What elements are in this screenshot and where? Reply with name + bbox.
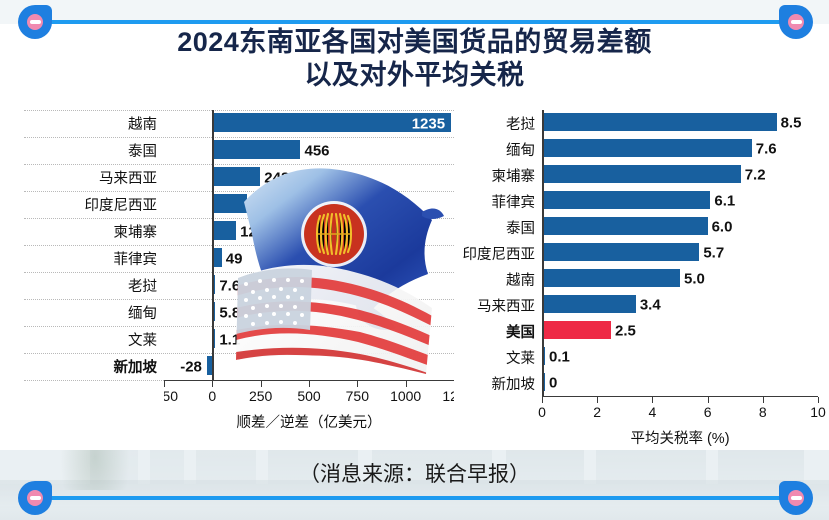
value-label: -28: [180, 358, 202, 375]
bar-track: 7.6: [542, 136, 818, 162]
title-line-1: 2024东南亚各国对美国货品的贸易差额: [177, 27, 652, 57]
category-label: 泰国: [462, 217, 542, 238]
bar: [542, 165, 741, 183]
bar-track: 2.5: [542, 318, 818, 344]
value-label: 1.1: [219, 331, 240, 348]
value-label: 6.0: [712, 219, 733, 236]
bar-track: 6.0: [542, 214, 818, 240]
value-label: 1235: [412, 115, 445, 132]
chart-row: 泰国456: [24, 137, 454, 164]
x-axis-area: -25002505007501000125 顺差／逆差（亿美元）: [164, 380, 454, 432]
value-label: 6.1: [714, 193, 735, 210]
category-label: 文莱: [24, 329, 164, 350]
category-label: 越南: [24, 113, 164, 134]
chart-row: 马来西亚3.4: [462, 292, 818, 318]
x-tick-label: 10: [810, 404, 826, 420]
value-label: 0.1: [549, 349, 570, 366]
bar: [212, 167, 260, 186]
value-label: 248: [264, 169, 289, 186]
chart-row: 老挝7.6: [24, 272, 454, 299]
chart-row: 新加坡-28: [24, 353, 454, 380]
value-label: 5.7: [703, 245, 724, 262]
chart-row: 柬埔寨7.2: [462, 162, 818, 188]
x-axis-tick-labels: -25002505007501000125: [164, 387, 454, 407]
x-tick-label: 6: [704, 404, 712, 420]
category-label: 泰国: [24, 140, 164, 161]
category-label: 新加坡: [24, 356, 164, 377]
category-label: 菲律宾: [24, 248, 164, 269]
chart-average-tariff: 老挝8.5缅甸7.6柬埔寨7.2菲律宾6.1泰国6.0印度尼西亚5.7越南5.0…: [462, 110, 818, 448]
bar-track: 8.5: [542, 110, 818, 136]
bar-track: 5.8: [164, 299, 454, 326]
x-axis-tick-labels: 0246810: [542, 403, 818, 423]
chart-row: 缅甸7.6: [462, 136, 818, 162]
bar-track: 0: [542, 370, 818, 396]
bar-track: 3.4: [542, 292, 818, 318]
bar: [542, 321, 611, 339]
bar: [212, 194, 247, 213]
x-tick-label: 4: [648, 404, 656, 420]
bar: [542, 217, 708, 235]
x-axis-title: 顺差／逆差（亿美元）: [164, 411, 454, 432]
chart-row: 越南1235: [24, 110, 454, 137]
bar: [212, 221, 236, 240]
category-label: 新加坡: [462, 373, 542, 394]
value-label: 5.0: [684, 271, 705, 288]
x-tick: [818, 397, 819, 403]
category-label: 印度尼西亚: [462, 243, 542, 264]
bar: [542, 243, 699, 261]
x-tick-label: 750: [346, 388, 369, 404]
x-tick-label: 0: [538, 404, 546, 420]
chart-row: 越南5.0: [462, 266, 818, 292]
chart-row: 老挝8.5: [462, 110, 818, 136]
x-tick-label: 1000: [390, 388, 421, 404]
x-tick-label: 500: [297, 388, 320, 404]
bar-track: 6.1: [542, 188, 818, 214]
source-note: （消息来源：联合早报）: [0, 458, 829, 488]
bar: [542, 113, 777, 131]
category-label: 美国: [462, 321, 542, 342]
chart-row: 美国2.5: [462, 318, 818, 344]
bar: [542, 139, 752, 157]
bar-track: 456: [164, 137, 454, 164]
value-label: 0: [549, 375, 557, 392]
value-label: 3.4: [640, 297, 661, 314]
category-axis-line: [542, 110, 544, 396]
x-axis-area: 0246810 平均关税率 (%): [542, 396, 818, 448]
chart-row: 菲律宾6.1: [462, 188, 818, 214]
category-label: 缅甸: [24, 302, 164, 323]
category-label: 菲律宾: [462, 191, 542, 212]
value-label: 7.6: [756, 141, 777, 158]
chart-row: 柬埔寨123: [24, 218, 454, 245]
category-label: 柬埔寨: [24, 221, 164, 242]
chart-row: 马来西亚248: [24, 164, 454, 191]
category-label: 柬埔寨: [462, 165, 542, 186]
page-title: 2024东南亚各国对美国货品的贸易差额 以及对外平均关税: [0, 26, 829, 92]
decor-rail-top: [36, 20, 796, 24]
x-tick-label: -250: [164, 388, 178, 404]
bar: [542, 295, 636, 313]
chart-row: 印度尼西亚5.7: [462, 240, 818, 266]
value-label: 123: [240, 223, 265, 240]
bar-track: 1.1: [164, 326, 454, 353]
chart-rows: 老挝8.5缅甸7.6柬埔寨7.2菲律宾6.1泰国6.0印度尼西亚5.7越南5.0…: [462, 110, 818, 396]
bar-track: 248: [164, 164, 454, 191]
category-label: 马来西亚: [462, 295, 542, 316]
bar-track: 123: [164, 218, 454, 245]
chart-row: 泰国6.0: [462, 214, 818, 240]
value-label: 5.8: [219, 304, 240, 321]
chart-row: 文莱1.1: [24, 326, 454, 353]
x-tick-label: 125: [442, 388, 454, 404]
infographic-canvas: 2024东南亚各国对美国货品的贸易差额 以及对外平均关税 越南1235泰国456…: [0, 0, 829, 520]
bar-track: -28: [164, 353, 454, 380]
bar: [212, 140, 300, 159]
bar: [542, 269, 680, 287]
title-line-2: 以及对外平均关税: [0, 59, 829, 92]
category-label: 马来西亚: [24, 167, 164, 188]
bar-track: 0.1: [542, 344, 818, 370]
bar-track: 49: [164, 245, 454, 272]
chart-rows: 越南1235泰国456马来西亚248印度尼西亚179柬埔寨123菲律宾49老挝7…: [24, 110, 454, 380]
value-label: 7.2: [745, 167, 766, 184]
value-label: 179: [251, 196, 276, 213]
category-label: 缅甸: [462, 139, 542, 160]
category-label: 印度尼西亚: [24, 194, 164, 215]
x-tick-label: 250: [249, 388, 272, 404]
bar-track: 7.6: [164, 272, 454, 299]
chart-row: 新加坡0: [462, 370, 818, 396]
x-tick-label: 2: [593, 404, 601, 420]
bar-track: 7.2: [542, 162, 818, 188]
chart-row: 印度尼西亚179: [24, 191, 454, 218]
x-axis-title: 平均关税率 (%): [542, 427, 818, 448]
chart-row: 菲律宾49: [24, 245, 454, 272]
x-axis-line: [542, 396, 818, 397]
value-label: 2.5: [615, 323, 636, 340]
bar: [542, 191, 710, 209]
chart-trade-balance: 越南1235泰国456马来西亚248印度尼西亚179柬埔寨123菲律宾49老挝7…: [24, 110, 454, 432]
value-label: 456: [304, 142, 329, 159]
bar-track: 179: [164, 191, 454, 218]
bar-track: 5.7: [542, 240, 818, 266]
value-label: 7.6: [219, 277, 240, 294]
category-label: 老挝: [462, 113, 542, 134]
zero-axis-line: [212, 110, 214, 380]
x-axis-line: [164, 380, 454, 381]
chart-row: 缅甸5.8: [24, 299, 454, 326]
x-tick-label: 8: [759, 404, 767, 420]
bar-track: 5.0: [542, 266, 818, 292]
value-label: 8.5: [781, 115, 802, 132]
category-label: 老挝: [24, 275, 164, 296]
category-label: 越南: [462, 269, 542, 290]
value-label: 49: [226, 250, 243, 267]
chart-row: 文莱0.1: [462, 344, 818, 370]
x-tick-label: 0: [208, 388, 216, 404]
category-label: 文莱: [462, 347, 542, 368]
decor-rail-bottom: [36, 496, 796, 500]
bar-track: 1235: [164, 110, 454, 137]
